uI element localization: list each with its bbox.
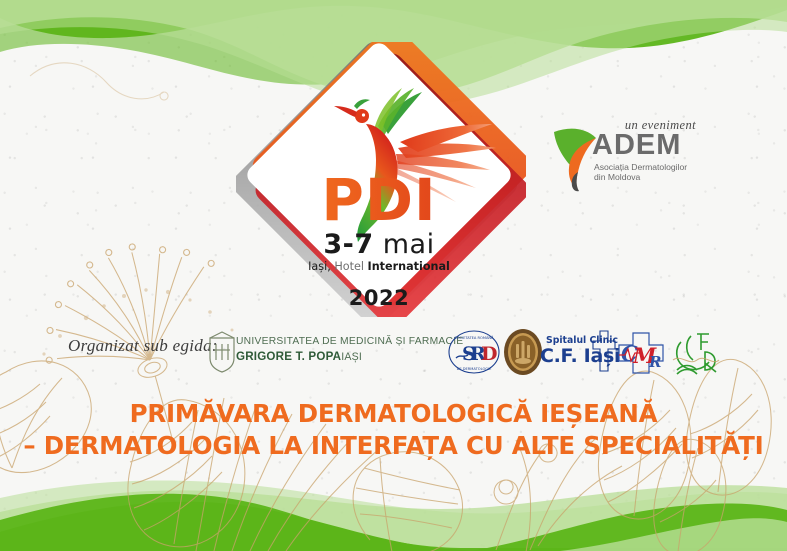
adem-flame-icon [554, 129, 596, 192]
umf-name-bold: GRIGORE T. POPA [236, 350, 341, 363]
adem-subtitle-line1: Asociația Dermatologilor [594, 162, 687, 172]
cf-cross-icon [592, 330, 616, 372]
egida-label: Organizat sub egida: [68, 336, 218, 356]
headline-line2: – DERMATOLOGIA LA INTERFAȚA CU ALTE SPEC… [0, 430, 787, 462]
srd-logo: SOCIETATEA ROMÂNĂ DE DERMATOLOGIE S R D [448, 330, 500, 374]
pdi-year: 2022 [349, 286, 409, 310]
svg-text:R: R [648, 353, 661, 371]
svg-text:D: D [481, 343, 497, 365]
cfr-pharmacy-logo [671, 330, 721, 376]
adem-wordmark: ADEM [592, 131, 681, 160]
sponsor-strip: Organizat sub egida: UNIVERSITATEA DE ME… [0, 326, 787, 380]
umf-line2: GRIGORE T. POPAIAȘI [236, 350, 362, 363]
svg-text:SOCIETATEA ROMÂNĂ: SOCIETATEA ROMÂNĂ [454, 335, 494, 340]
adem-logo: un eveniment ADEM Asociația Dermatologil… [548, 118, 698, 193]
pdi-dates: 3-7 mai [323, 229, 434, 260]
poster-headline: PRIMĂVARA DERMATOLOGICĂ IEȘEANĂ – DERMAT… [0, 398, 787, 462]
seal-logo [503, 328, 543, 376]
umf-city: IAȘI [341, 351, 362, 363]
umf-shield-icon [207, 330, 237, 374]
cmr-logo: C M R [617, 331, 665, 375]
adem-subtitle-line2: din Moldova [594, 172, 640, 182]
svg-text:DE DERMATOLOGIE: DE DERMATOLOGIE [457, 367, 493, 371]
adem-subtitle: Asociația Dermatologilor din Moldova [594, 162, 687, 183]
pdi-venue: Iași, Hotel International [308, 260, 450, 273]
event-poster: PDI 3-7 mai Iași, Hotel International 20… [0, 0, 787, 551]
pdi-logo: PDI 3-7 mai Iași, Hotel International 20… [236, 42, 526, 317]
pdi-wordmark: PDI [321, 166, 436, 234]
umf-line1: UNIVERSITATEA DE MEDICINĂ ȘI FARMACIE [236, 336, 463, 347]
headline-line1: PRIMĂVARA DERMATOLOGICĂ IEȘEANĂ [0, 398, 787, 430]
